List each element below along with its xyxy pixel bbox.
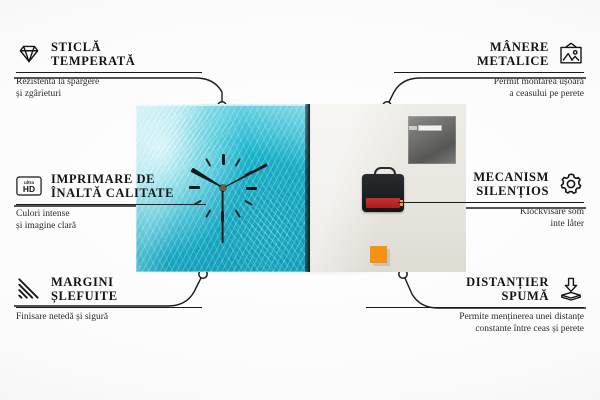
clock-center-hub (220, 185, 226, 191)
hanger-slot (418, 125, 442, 131)
battery (366, 198, 400, 208)
feature-description: Rezistentă la spargere și zgârieturi (16, 77, 202, 100)
foam-spacer-pad (370, 246, 387, 263)
feature-metal-handles: MÂNERE METALICE Permit montarea ușoară a… (394, 40, 584, 100)
feature-header: MECANISM SILENȚIOS (398, 170, 584, 198)
feature-header: MÂNERE METALICE (394, 40, 584, 68)
arrow-down-onto-surface-icon (558, 276, 584, 302)
feature-description: Culori intense și imagine clară (16, 209, 206, 232)
diagonal-stripes-icon (16, 276, 42, 302)
feature-rule (398, 202, 584, 203)
feature-header: MARGINI ȘLEFUITE (16, 275, 202, 303)
feature-rule (16, 204, 206, 205)
ultra-hd-icon: ultra HD (16, 173, 42, 199)
svg-text:HD: HD (23, 184, 35, 194)
feature-description: Permite menținerea unei distanțe constan… (366, 312, 584, 335)
diamond-icon (16, 41, 42, 67)
infographic-canvas: STICLĂ TEMPERATĂ Rezistentă la spargere … (0, 0, 600, 400)
movement-hanging-loop (374, 167, 396, 178)
feature-title: IMPRIMARE DE ÎNALTĂ CALITATE (51, 172, 174, 200)
feature-polished-edges: MARGINI ȘLEFUITE Finisare netedă și sigu… (16, 275, 202, 324)
feature-silent-mechanism: MECANISM SILENȚIOS Klockvisare som inte … (398, 170, 584, 230)
clock-second-hand (222, 188, 224, 243)
feature-title: DISTANȚIER SPUMĂ (466, 275, 549, 303)
feature-foam-spacer: DISTANȚIER SPUMĂ Permite menținerea unei… (366, 275, 584, 335)
feature-tempered-glass: STICLĂ TEMPERATĂ Rezistentă la spargere … (16, 40, 202, 100)
feature-rule (394, 72, 584, 73)
feature-high-quality-print: ultra HD IMPRIMARE DE ÎNALTĂ CALITATE Cu… (16, 172, 206, 232)
feature-rule (16, 72, 202, 73)
feature-title: STICLĂ TEMPERATĂ (51, 40, 135, 68)
glass-top-edge (136, 104, 310, 106)
feature-rule (16, 307, 202, 308)
feature-description: Permit montarea ușoară a ceasului pe per… (394, 77, 584, 100)
feature-description: Finisare netedă și sigură (16, 312, 202, 324)
gear-icon (558, 171, 584, 197)
feature-description: Klockvisare som inte låter (398, 207, 584, 230)
feature-rule (366, 307, 584, 308)
feature-title: MECANISM SILENȚIOS (473, 170, 549, 198)
feature-header: STICLĂ TEMPERATĂ (16, 40, 202, 68)
feature-header: ultra HD IMPRIMARE DE ÎNALTĂ CALITATE (16, 172, 206, 200)
hanging-frame-icon (558, 41, 584, 67)
feature-title: MÂNERE METALICE (477, 40, 549, 68)
feature-title: MARGINI ȘLEFUITE (51, 275, 118, 303)
feature-header: DISTANȚIER SPUMĂ (366, 275, 584, 303)
metal-hanger-plate (408, 116, 456, 164)
